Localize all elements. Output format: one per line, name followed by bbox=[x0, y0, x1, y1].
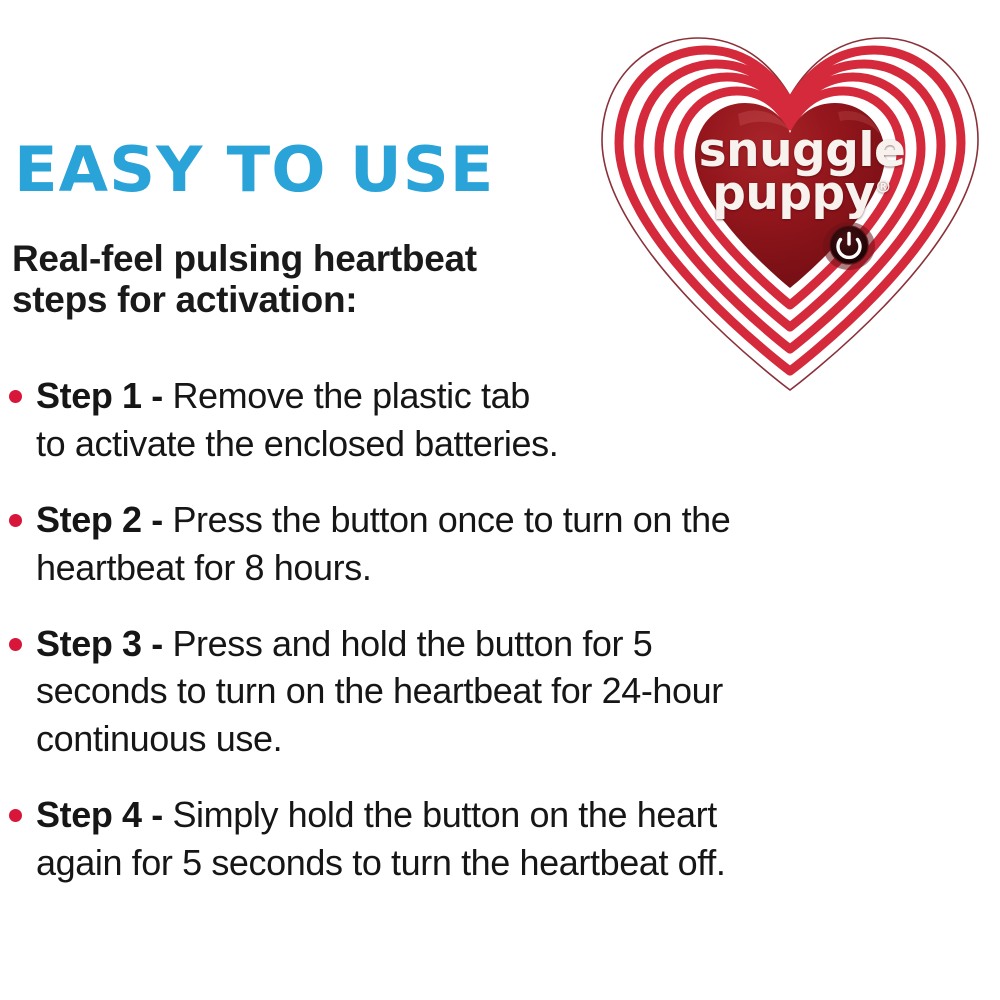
step-4-line-1: Step 4 - Simply hold the button on the h… bbox=[36, 791, 1000, 839]
list-item-step-1: Step 1 - Remove the plastic tab to activ… bbox=[0, 372, 1000, 468]
step-1-line-2: to activate the enclosed batteries. bbox=[36, 420, 1000, 468]
step-2-label: Step 2 - bbox=[36, 499, 163, 540]
step-3-line-1: Step 3 - Press and hold the button for 5 bbox=[36, 620, 1000, 668]
power-button[interactable] bbox=[823, 222, 875, 270]
subtitle-line-2: steps for activation: bbox=[12, 279, 477, 320]
step-2-line-2: heartbeat for 8 hours. bbox=[36, 544, 1000, 592]
list-item-step-4: Step 4 - Simply hold the button on the h… bbox=[0, 791, 1000, 887]
step-2-text-1: Press the button once to turn on the bbox=[172, 499, 730, 540]
step-4-line-2: again for 5 seconds to turn the heartbea… bbox=[36, 839, 1000, 887]
list-item-step-2: Step 2 - Press the button once to turn o… bbox=[0, 496, 1000, 592]
subtitle: Real-feel pulsing heartbeat steps for ac… bbox=[12, 238, 477, 321]
subtitle-line-1: Real-feel pulsing heartbeat bbox=[12, 238, 477, 279]
bullet-icon bbox=[9, 809, 22, 822]
steps-list: Step 1 - Remove the plastic tab to activ… bbox=[0, 372, 1000, 887]
step-3-label: Step 3 - bbox=[36, 623, 163, 664]
list-item-step-3: Step 3 - Press and hold the button for 5… bbox=[0, 620, 1000, 764]
page-title: EASY TO USE bbox=[14, 141, 494, 200]
step-1-text-1: Remove the plastic tab bbox=[172, 375, 529, 416]
heart-rings-graphic bbox=[588, 22, 992, 397]
step-1-line-1: Step 1 - Remove the plastic tab bbox=[36, 372, 1000, 420]
bullet-icon bbox=[9, 390, 22, 403]
step-2-line-1: Step 2 - Press the button once to turn o… bbox=[36, 496, 1000, 544]
step-4-label: Step 4 - bbox=[36, 794, 163, 835]
step-3-line-3: continuous use. bbox=[36, 715, 1000, 763]
snuggle-puppy-heart-logo: snuggle puppy® bbox=[588, 22, 992, 397]
step-4-text-1: Simply hold the button on the heart bbox=[172, 794, 716, 835]
step-1-label: Step 1 - bbox=[36, 375, 163, 416]
step-3-text-1: Press and hold the button for 5 bbox=[172, 623, 652, 664]
bullet-icon bbox=[9, 514, 22, 527]
step-3-line-2: seconds to turn on the heartbeat for 24-… bbox=[36, 667, 1000, 715]
bullet-icon bbox=[9, 638, 22, 651]
page-root: snuggle puppy® EASY TO USE Real-feel pul… bbox=[0, 0, 1000, 1000]
